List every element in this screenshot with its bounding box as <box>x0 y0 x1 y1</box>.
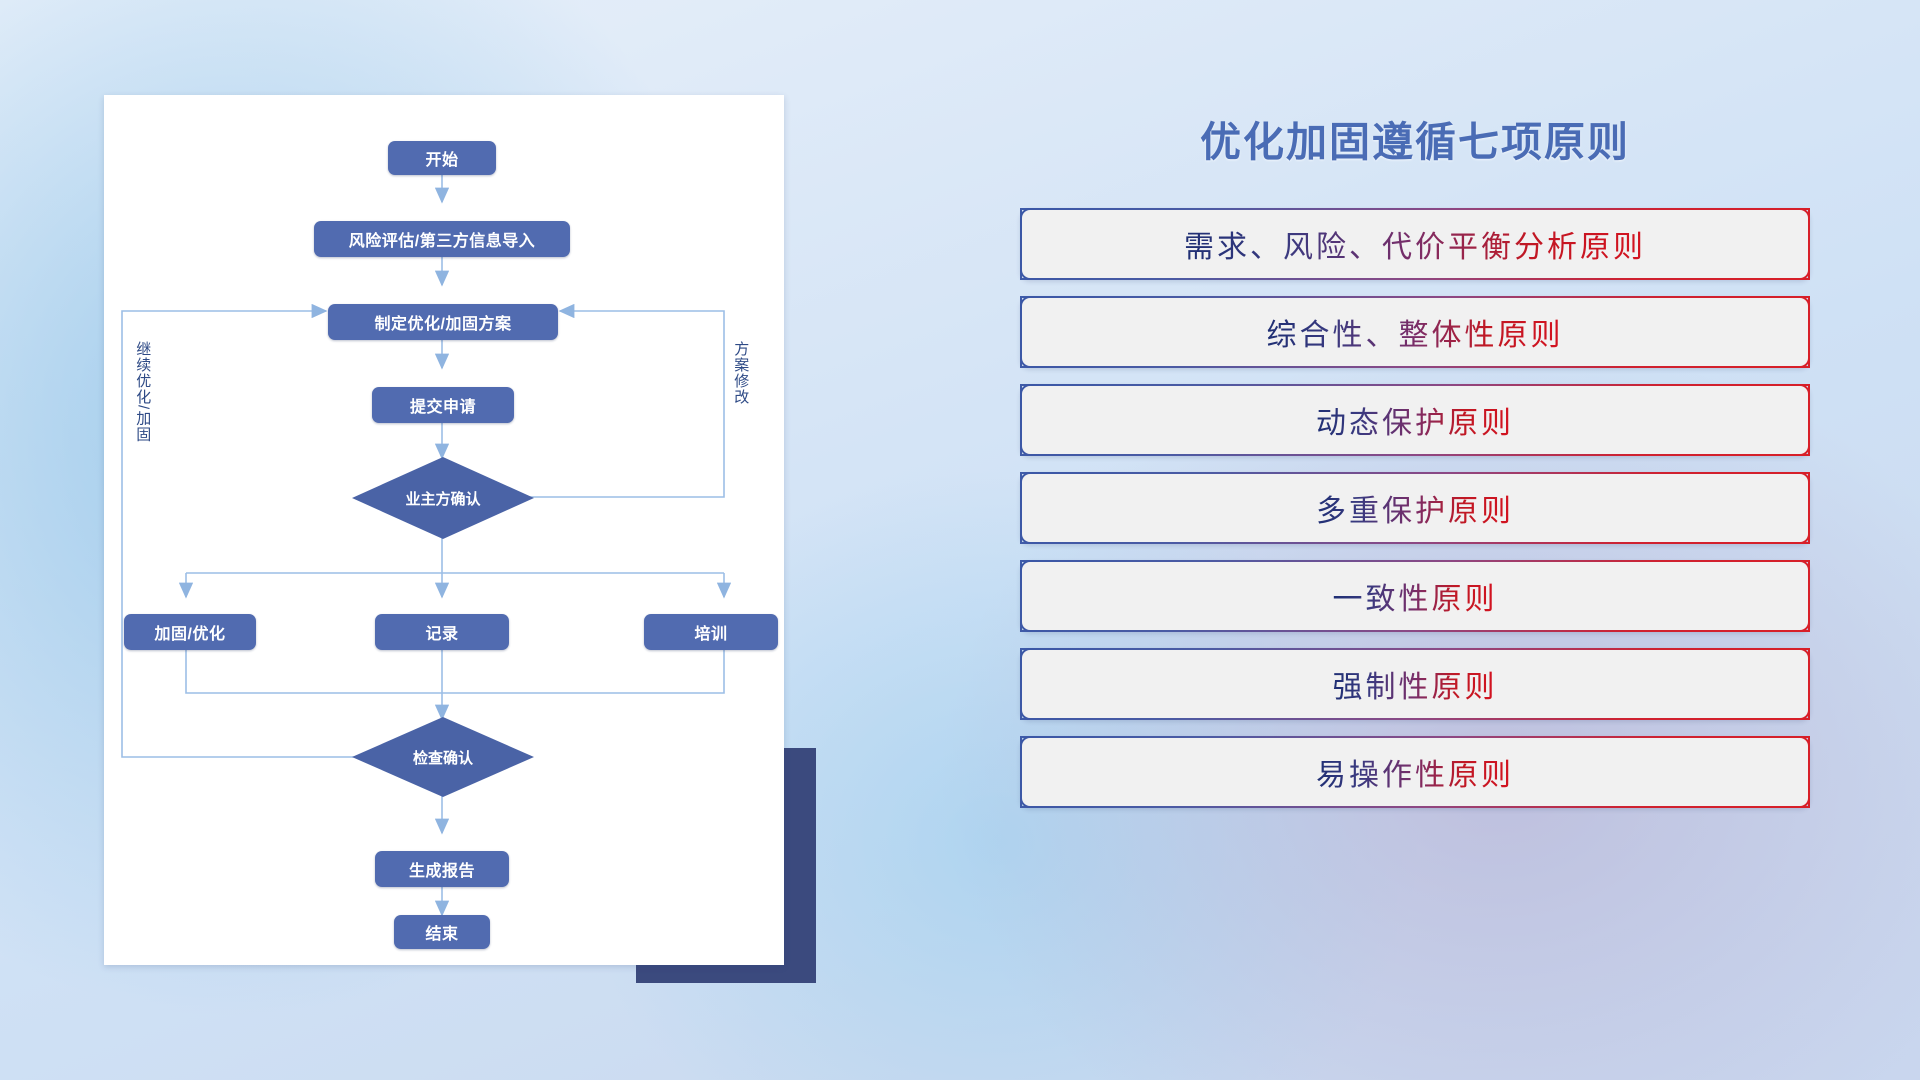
flow-node-owner-confirm[interactable]: 业主方确认 <box>352 457 534 539</box>
principle-item-2[interactable]: 综合性、整体性原则 <box>1020 296 1810 368</box>
flow-node-plan-label: 制定优化/加固方案 <box>375 310 512 334</box>
principle-item-2-label: 综合性、整体性原则 <box>1267 310 1564 354</box>
principle-item-7-label: 易操作性原则 <box>1316 750 1514 794</box>
flow-node-report-label: 生成报告 <box>409 857 475 881</box>
flow-node-record-label: 记录 <box>425 620 458 644</box>
principle-item-1[interactable]: 需求、风险、代价平衡分析原则 <box>1020 208 1810 280</box>
flow-node-owner-confirm-label: 业主方确认 <box>405 488 480 509</box>
principle-item-4[interactable]: 多重保护原则 <box>1020 472 1810 544</box>
flow-node-reinforce-label: 加固/优化 <box>155 620 226 644</box>
principle-item-6-label: 强制性原则 <box>1333 662 1498 706</box>
flow-node-start-label: 开始 <box>425 146 458 170</box>
panel-title: 优化加固遵循七项原则 <box>1010 108 1820 168</box>
flowchart-card: 开始 风险评估/第三方信息导入 制定优化/加固方案 提交申请 业主方确认 加固/… <box>104 95 784 965</box>
flow-edge-label-left-loop: 继续优化/加固 <box>134 341 151 501</box>
principle-item-7[interactable]: 易操作性原则 <box>1020 736 1810 808</box>
flow-node-check-confirm-label: 检查确认 <box>413 747 473 768</box>
principles-panel: 优化加固遵循七项原则 需求、风险、代价平衡分析原则 综合性、整体性原则 动态保护… <box>1010 90 1820 990</box>
flow-node-reinforce[interactable]: 加固/优化 <box>124 614 256 650</box>
flow-node-start[interactable]: 开始 <box>388 141 496 175</box>
flow-node-training[interactable]: 培训 <box>644 614 778 650</box>
principle-item-1-label: 需求、风险、代价平衡分析原则 <box>1184 222 1646 266</box>
flow-node-end[interactable]: 结束 <box>394 915 490 949</box>
flow-node-training-label: 培训 <box>694 620 727 644</box>
flow-node-submit-label: 提交申请 <box>410 393 476 417</box>
flow-edge-label-right-loop: 方案修改 <box>732 341 749 453</box>
flow-node-risk-assessment-label: 风险评估/第三方信息导入 <box>349 227 535 251</box>
flow-node-report[interactable]: 生成报告 <box>375 851 509 887</box>
flow-node-submit[interactable]: 提交申请 <box>372 387 514 423</box>
principle-item-6[interactable]: 强制性原则 <box>1020 648 1810 720</box>
flow-node-end-label: 结束 <box>425 920 458 944</box>
flow-node-plan[interactable]: 制定优化/加固方案 <box>328 304 558 340</box>
flow-node-risk-assessment[interactable]: 风险评估/第三方信息导入 <box>314 221 570 257</box>
principle-item-5[interactable]: 一致性原则 <box>1020 560 1810 632</box>
flow-node-record[interactable]: 记录 <box>375 614 509 650</box>
principle-item-5-label: 一致性原则 <box>1333 574 1498 618</box>
flowchart-stage: 开始 风险评估/第三方信息导入 制定优化/加固方案 提交申请 业主方确认 加固/… <box>104 95 784 965</box>
principle-item-4-label: 多重保护原则 <box>1316 486 1514 530</box>
principle-item-3[interactable]: 动态保护原则 <box>1020 384 1810 456</box>
principles-list: 需求、风险、代价平衡分析原则 综合性、整体性原则 动态保护原则 多重保护原则 一… <box>1020 208 1810 824</box>
principle-item-3-label: 动态保护原则 <box>1316 398 1514 442</box>
flow-node-check-confirm[interactable]: 检查确认 <box>352 717 534 797</box>
